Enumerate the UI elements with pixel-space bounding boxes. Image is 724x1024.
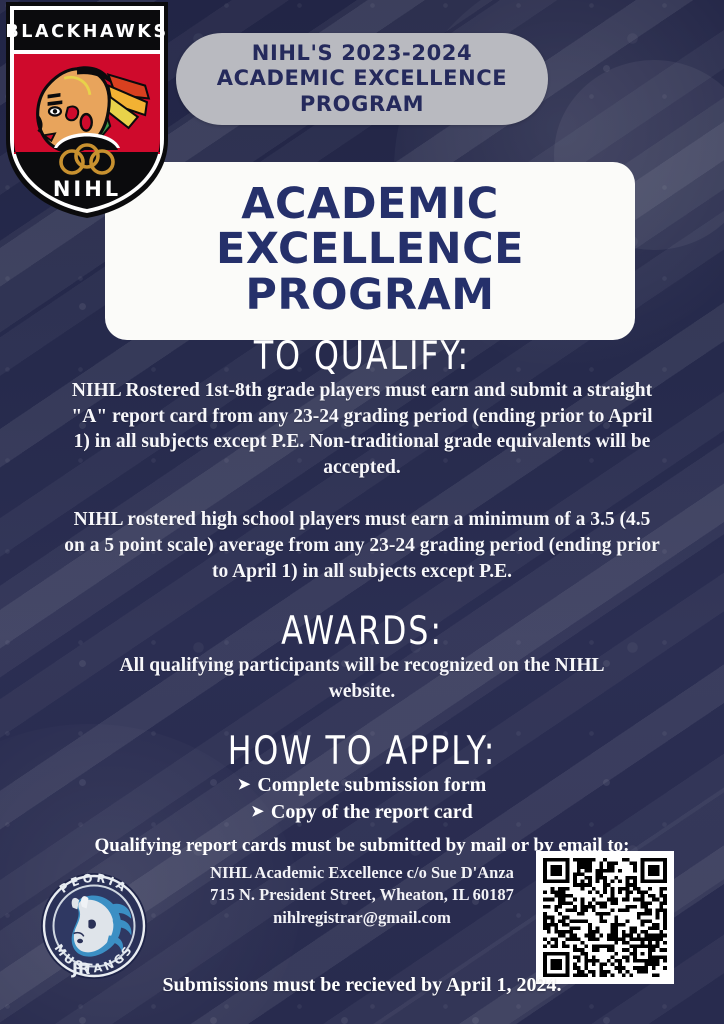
apply-bullet-2: Copy of the report card bbox=[271, 801, 473, 823]
arrow-bullet-icon: ➤ bbox=[238, 775, 251, 795]
poster-body: TO QUALIFY: NIHL Rostered 1st-8th grade … bbox=[0, 336, 724, 929]
title-card: ACADEMIC EXCELLENCE PROGRAM bbox=[105, 162, 635, 340]
arrow-bullet-icon: ➤ bbox=[251, 802, 264, 822]
badge-line-3: PROGRAM bbox=[217, 92, 508, 117]
awards-heading: AWARDS: bbox=[14, 611, 709, 652]
apply-bullet-1: Complete submission form bbox=[257, 774, 486, 796]
badge-line-2: ACADEMIC EXCELLENCE bbox=[217, 66, 508, 91]
page-title: ACADEMIC EXCELLENCE PROGRAM bbox=[216, 182, 524, 321]
title-line-3: PROGRAM bbox=[216, 273, 524, 319]
qualify-paragraph-1: NIHL Rostered 1st-8th grade players must… bbox=[62, 378, 662, 482]
qualify-heading: TO QUALIFY: bbox=[14, 336, 709, 377]
qualify-paragraph-2: NIHL rostered high school players must e… bbox=[62, 507, 662, 585]
badge-line-1: NIHL'S 2023-2024 bbox=[217, 41, 508, 66]
title-line-2: EXCELLENCE bbox=[216, 227, 524, 273]
blackhawks-footer-label: NIHL bbox=[53, 177, 121, 201]
qr-code-image bbox=[543, 858, 667, 977]
program-year-badge: NIHL'S 2023-2024 ACADEMIC EXCELLENCE PRO… bbox=[176, 33, 548, 125]
awards-paragraph: All qualifying participants will be reco… bbox=[92, 653, 632, 705]
qr-code[interactable] bbox=[536, 851, 674, 984]
blackhawks-logo: BLACKHAWKS bbox=[4, 0, 170, 220]
list-item: ➤Complete submission form bbox=[0, 772, 724, 799]
poster-canvas: BLACKHAWKS bbox=[0, 0, 724, 1024]
apply-heading: HOW TO APPLY: bbox=[14, 731, 709, 772]
apply-bullet-list: ➤Complete submission form ➤Copy of the r… bbox=[0, 772, 724, 826]
blackhawks-banner-label: BLACKHAWKS bbox=[5, 22, 168, 42]
title-line-1: ACADEMIC bbox=[216, 182, 524, 228]
program-year-badge-text: NIHL'S 2023-2024 ACADEMIC EXCELLENCE PRO… bbox=[203, 41, 522, 117]
deadline-footer: Submissions must be recieved by April 1,… bbox=[0, 974, 724, 997]
peoria-jr-mustangs-logo: PEORIA MUSTANGS JR bbox=[26, 862, 174, 988]
list-item: ➤Copy of the report card bbox=[0, 799, 724, 826]
